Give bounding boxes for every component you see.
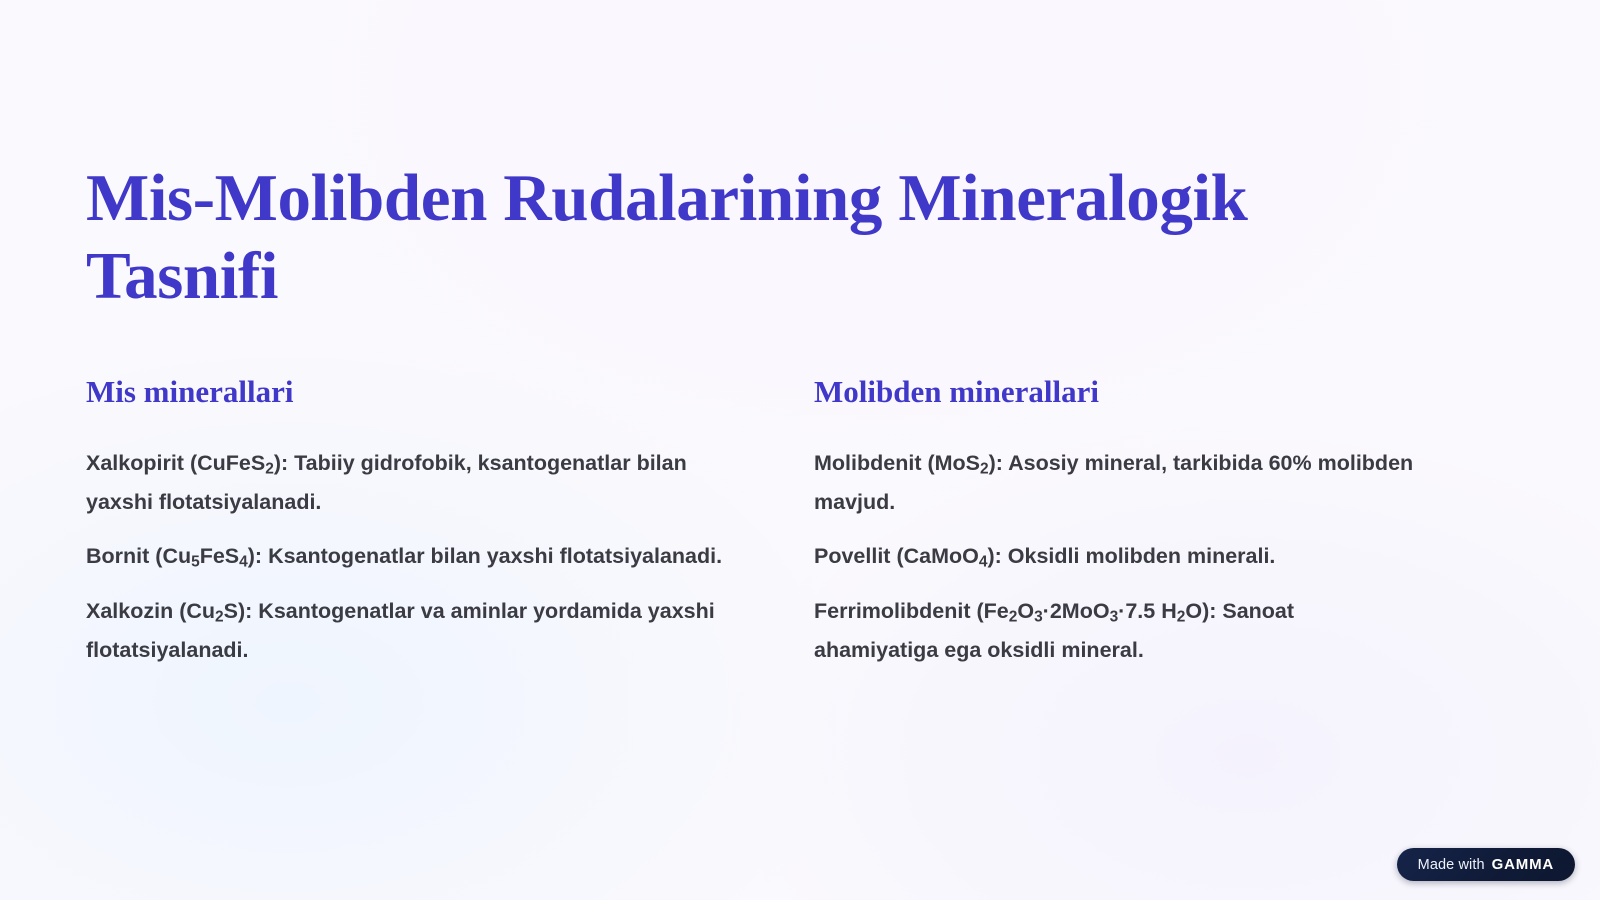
- mineral-name: Ferrimolibdenit: [814, 599, 976, 623]
- column-heading-molybdenum: Molibden minerallari: [814, 373, 1514, 412]
- mineral-item: Ferrimolibdenit (Fe2O3·2MoO3·7.5 H2O): S…: [814, 592, 1414, 670]
- columns-container: Mis minerallari Xalkopirit (CuFeS2): Tab…: [86, 373, 1506, 669]
- mineral-formula: (CuFeS2):: [190, 451, 288, 475]
- mineral-name: Xalkozin: [86, 599, 179, 623]
- mineral-item: Bornit (Cu5FeS4): Ksantogenatlar bilan y…: [86, 537, 746, 576]
- page-title: Mis-Molibden Rudalarining Mineralogik Ta…: [86, 160, 1426, 315]
- mineral-description: Ksantogenatlar bilan yaxshi flotatsiyala…: [262, 544, 722, 568]
- mineral-formula: (CaMoO4):: [896, 544, 1001, 568]
- mineral-description: Oksidli molibden minerali.: [1002, 544, 1276, 568]
- mineral-formula: (Cu5FeS4):: [155, 544, 262, 568]
- column-heading-copper: Mis minerallari: [86, 373, 786, 412]
- mineral-item: Xalkopirit (CuFeS2): Tabiiy gidrofobik, …: [86, 444, 746, 522]
- mineral-item: Xalkozin (Cu2S): Ksantogenatlar va aminl…: [86, 592, 746, 670]
- made-with-gamma-badge[interactable]: Made with GAMMA: [1397, 848, 1575, 881]
- mineral-formula: (MoS2):: [927, 451, 1002, 475]
- slide-content: Mis-Molibden Rudalarining Mineralogik Ta…: [86, 160, 1506, 670]
- mineral-name: Molibdenit: [814, 451, 927, 475]
- column-molybdenum-minerals: Molibden minerallari Molibdenit (MoS2): …: [814, 373, 1514, 669]
- mineral-list-copper: Xalkopirit (CuFeS2): Tabiiy gidrofobik, …: [86, 444, 786, 670]
- mineral-list-molybdenum: Molibdenit (MoS2): Asosiy mineral, tarki…: [814, 444, 1514, 670]
- mineral-name: Povellit: [814, 544, 896, 568]
- slide-canvas: Mis-Molibden Rudalarining Mineralogik Ta…: [0, 0, 1600, 900]
- mineral-item: Molibdenit (MoS2): Asosiy mineral, tarki…: [814, 444, 1414, 522]
- mineral-name: Bornit: [86, 544, 155, 568]
- column-copper-minerals: Mis minerallari Xalkopirit (CuFeS2): Tab…: [86, 373, 786, 669]
- mineral-item: Povellit (CaMoO4): Oksidli molibden mine…: [814, 537, 1414, 576]
- mineral-formula: (Cu2S):: [179, 599, 252, 623]
- badge-prefix-label: Made with: [1418, 857, 1485, 873]
- gamma-wordmark: GAMMA: [1492, 856, 1554, 873]
- mineral-name: Xalkopirit: [86, 451, 190, 475]
- mineral-formula: (Fe2O3·2MoO3·7.5 H2O):: [976, 599, 1216, 623]
